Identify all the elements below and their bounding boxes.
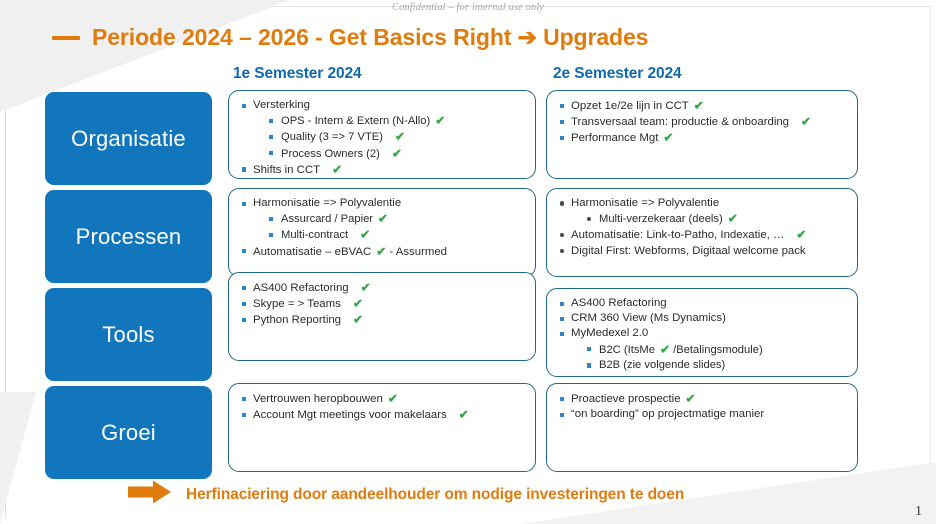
bullet-item: MyMedexel 2.0: [557, 326, 849, 341]
bullet-text: Quality (3 => 7 VTE): [281, 131, 383, 143]
check-icon: ✔: [658, 131, 673, 146]
bullet-text: Opzet 1e/2e lijn in CCT: [571, 100, 689, 112]
check-icon: ✔: [348, 228, 370, 243]
bullet-item: B2B (zie volgende slides): [557, 358, 849, 373]
bullet-suffix: - Assurmed: [386, 246, 447, 258]
bullet-text: Harmonisatie => Polyvalentie: [571, 197, 719, 209]
card-groei-semester1[interactable]: Vertrouwen heropbouwen✔Account Mgt meeti…: [228, 383, 536, 472]
bullet-text: Multi-contract: [281, 229, 348, 241]
bullet-text: B2B (zie volgende slides): [599, 359, 725, 371]
bullet-text: Assurcard / Papier: [281, 213, 373, 225]
bullet-text: Harmonisatie => Polyvalentie: [253, 197, 401, 209]
bullet-item: Multi-contract✔: [239, 227, 527, 243]
bullet-item: Shifts in CCT✔: [239, 162, 527, 178]
check-icon: ✔: [380, 146, 402, 161]
check-icon: ✔: [784, 228, 806, 243]
bullet-list: Vertrouwen heropbouwen✔Account Mgt meeti…: [239, 391, 527, 423]
bullet-item: Performance Mgt✔: [557, 130, 849, 146]
bullet-text: Shifts in CCT: [253, 164, 320, 176]
bullet-item: Process Owners (2)✔: [239, 146, 527, 162]
category-label: Tools: [102, 322, 154, 348]
card-organisatie-semester2[interactable]: Opzet 1e/2e lijn in CCT✔Transversaal tea…: [546, 90, 858, 179]
card-tools-semester1[interactable]: AS400 Refactoring✔Skype = > Teams✔Python…: [228, 272, 536, 361]
check-icon: ✔: [371, 244, 386, 259]
category-groei[interactable]: Groei: [45, 386, 212, 479]
bullet-item: Multi-verzekeraar (deels)✔: [557, 211, 849, 227]
bullet-text: Transversaal team: productie & onboardin…: [571, 116, 789, 128]
bullet-text: OPS - Intern & Extern (N-Allo): [281, 115, 430, 127]
confidentiality-note: Confidential – for internal use only: [0, 2, 936, 13]
check-icon: ✔: [430, 114, 445, 129]
bullet-item: Digital First: Webforms, Digitaal welcom…: [557, 244, 849, 259]
bullet-list: Proactieve prospectie✔“on boarding” op p…: [557, 391, 849, 422]
check-icon: ✔: [681, 392, 696, 407]
bullet-suffix: /Betalingsmodule): [670, 344, 763, 356]
title-dash-icon: [52, 36, 80, 40]
bullet-item: Python Reporting✔: [239, 312, 527, 328]
check-icon: ✔: [789, 115, 811, 130]
bullet-text: AS400 Refactoring: [571, 297, 667, 309]
category-label: Groei: [101, 420, 156, 446]
category-tools[interactable]: Tools: [45, 288, 212, 381]
bullet-list: Harmonisatie => PolyvalentieAssurcard / …: [239, 196, 527, 260]
bullet-list: Harmonisatie => PolyvalentieMulti-verzek…: [557, 196, 849, 259]
bullet-text: Automatisatie: Link-to-Patho, Indexatie,…: [571, 229, 784, 241]
bullet-text: B2C (ItsMe: [599, 344, 655, 356]
bullet-item: Transversaal team: productie & onboardin…: [557, 114, 849, 130]
bullet-text: Proactieve prospectie: [571, 393, 681, 405]
slide-title-text: Periode 2024 – 2026 - Get Basics Right ➔…: [92, 24, 648, 51]
bullet-item: AS400 Refactoring: [557, 296, 849, 311]
slide-frame-right: [930, 6, 931, 518]
bullet-item: “on boarding” op projectmatige manier: [557, 407, 849, 422]
bullet-text: Python Reporting: [253, 314, 341, 326]
bullet-text: MyMedexel 2.0: [571, 327, 648, 339]
bullet-text: Performance Mgt: [571, 132, 658, 144]
column-header-semester-2: 2e Semester 2024: [553, 65, 682, 83]
right-arrow-icon: [128, 480, 172, 509]
bullet-item: AS400 Refactoring✔: [239, 280, 527, 296]
bullet-text: AS400 Refactoring: [253, 282, 349, 294]
bullet-text: CRM 360 View (Ms Dynamics): [571, 312, 726, 324]
bullet-item: Harmonisatie => Polyvalentie: [557, 196, 849, 211]
check-icon: ✔: [723, 212, 738, 227]
category-processen[interactable]: Processen: [45, 190, 212, 283]
bullet-text: Versterking: [253, 99, 310, 111]
bullet-text: Vertrouwen heropbouwen: [253, 393, 383, 405]
bullet-text: “on boarding” op projectmatige manier: [571, 408, 764, 420]
card-tools-semester2[interactable]: AS400 RefactoringCRM 360 View (Ms Dynami…: [546, 288, 858, 377]
bullet-list: AS400 Refactoring✔Skype = > Teams✔Python…: [239, 280, 527, 329]
slide-canvas: Confidential – for internal use only Per…: [0, 0, 936, 524]
bullet-text: Skype = > Teams: [253, 298, 341, 310]
card-organisatie-semester1[interactable]: VersterkingOPS - Intern & Extern (N-Allo…: [228, 90, 536, 179]
bullet-item: Skype = > Teams✔: [239, 296, 527, 312]
bullet-list: VersterkingOPS - Intern & Extern (N-Allo…: [239, 98, 527, 179]
bullet-item: B2C (ItsMe✔ /Betalingsmodule): [557, 342, 849, 358]
bullet-item: Account Mgt meetings voor makelaars✔: [239, 407, 527, 423]
bullet-item: Assurcard / Papier✔: [239, 211, 527, 227]
bullet-text: Automatisatie – eBVAC: [253, 246, 371, 258]
bullet-item: Automatisatie – eBVAC✔ - Assurmed: [239, 244, 527, 260]
check-icon: ✔: [383, 392, 398, 407]
check-icon: ✔: [341, 313, 363, 328]
card-groei-semester2[interactable]: Proactieve prospectie✔“on boarding” op p…: [546, 383, 858, 472]
bullet-item: Proactieve prospectie✔: [557, 391, 849, 407]
bullet-text: Digital First: Webforms, Digitaal welcom…: [571, 245, 806, 257]
category-label: Organisatie: [71, 126, 186, 152]
bullet-item: Vormingsplan✔: [239, 178, 527, 179]
bullet-item: Harmonisatie => Polyvalentie: [239, 196, 527, 211]
check-icon: ✔: [320, 162, 342, 177]
bullet-item: OPS - Intern & Extern (N-Allo)✔: [239, 113, 527, 129]
check-icon: ✔: [447, 408, 469, 423]
check-icon: ✔: [689, 99, 704, 114]
category-organisatie[interactable]: Organisatie: [45, 92, 212, 185]
slide-title: Periode 2024 – 2026 - Get Basics Right ➔…: [52, 24, 648, 51]
category-label: Processen: [76, 224, 182, 250]
bullet-item: Opzet 1e/2e lijn in CCT✔: [557, 98, 849, 114]
bullet-text: Account Mgt meetings voor makelaars: [253, 409, 447, 421]
check-icon: ✔: [373, 212, 388, 227]
check-icon: ✔: [383, 130, 405, 145]
bullet-list: AS400 RefactoringCRM 360 View (Ms Dynami…: [557, 296, 849, 373]
bullet-item: Versterking: [239, 98, 527, 113]
banner-text: Herfinaciering door aandeelhouder om nod…: [186, 486, 684, 504]
card-processen-semester2[interactable]: Harmonisatie => PolyvalentieMulti-verzek…: [546, 188, 858, 277]
bullet-item: Quality (3 => 7 VTE)✔: [239, 129, 527, 145]
bottom-banner: Herfinaciering door aandeelhouder om nod…: [128, 480, 684, 509]
bullet-text: Multi-verzekeraar (deels): [599, 213, 723, 225]
check-icon: ✔: [349, 281, 371, 296]
bullet-list: Opzet 1e/2e lijn in CCT✔Transversaal tea…: [557, 98, 849, 147]
bullet-item: CRM 360 View (Ms Dynamics): [557, 311, 849, 326]
bullet-item: Automatisatie: Link-to-Patho, Indexatie,…: [557, 227, 849, 243]
check-icon: ✔: [655, 342, 670, 357]
page-number: 1: [915, 504, 922, 520]
check-icon: ✔: [341, 297, 363, 312]
column-header-semester-1: 1e Semester 2024: [233, 65, 362, 83]
bullet-item: Vertrouwen heropbouwen✔: [239, 391, 527, 407]
bullet-text: Process Owners (2): [281, 148, 380, 160]
card-processen-semester1[interactable]: Harmonisatie => PolyvalentieAssurcard / …: [228, 188, 536, 277]
